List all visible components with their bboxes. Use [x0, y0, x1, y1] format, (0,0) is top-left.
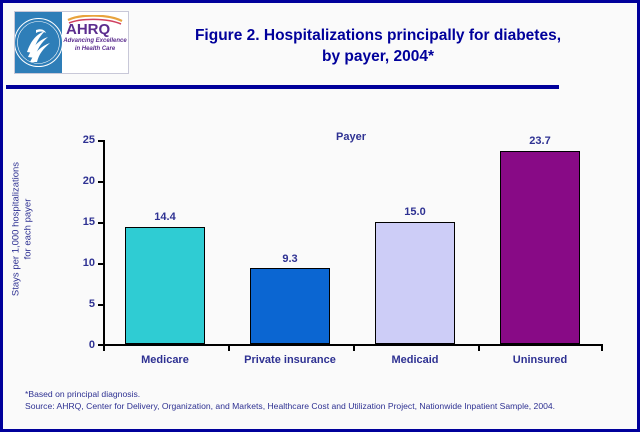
bar-value-medicare: 14.4	[135, 211, 195, 223]
y-tick-label-20: 20	[69, 176, 95, 187]
footnote-source: Source: AHRQ, Center for Delivery, Organ…	[25, 400, 625, 412]
y-tick-label-15: 15	[69, 217, 95, 228]
bar-chart-plot: Stays per 1,000 hospitalizations for eac…	[3, 89, 637, 369]
x-tick-mark-0	[103, 346, 105, 351]
x-axis-title: Payer	[321, 131, 381, 143]
x-tick-mark-2	[353, 346, 355, 351]
figure-header: AHRQ Advancing Excellence in Health Care…	[3, 3, 637, 83]
bar-private-insurance[interactable]	[250, 268, 330, 344]
footnote-note: *Based on principal diagnosis.	[25, 388, 625, 400]
bar-uninsured[interactable]	[500, 151, 580, 344]
figure-container: AHRQ Advancing Excellence in Health Care…	[0, 0, 640, 432]
hhs-seal-icon	[15, 12, 62, 73]
x-tick-mark-1	[228, 346, 230, 351]
x-category-label-medicaid: Medicaid	[355, 354, 475, 366]
y-tick-label-25: 25	[69, 135, 95, 146]
x-category-label-private-insurance: Private insurance	[230, 354, 350, 366]
y-tick-label-10: 10	[69, 258, 95, 269]
x-category-label-uninsured: Uninsured	[480, 354, 600, 366]
y-tick-label-5: 5	[69, 299, 95, 310]
ahrq-logo: AHRQ Advancing Excellence in Health Care	[14, 11, 129, 74]
y-axis-title: Stays per 1,000 hospitalizations for eac…	[11, 147, 35, 312]
x-tick-mark-4	[601, 346, 603, 351]
svg-text:AHRQ: AHRQ	[66, 21, 110, 37]
bar-medicaid[interactable]	[375, 222, 455, 344]
x-category-label-medicare: Medicare	[105, 354, 225, 366]
bar-value-medicaid: 15.0	[385, 206, 445, 218]
x-tick-mark-3	[478, 346, 480, 351]
ahrq-logotype-icon: AHRQ	[64, 15, 126, 37]
bar-value-uninsured: 23.7	[510, 135, 570, 147]
y-axis-line	[103, 140, 105, 345]
ahrq-wordmark: AHRQ Advancing Excellence in Health Care	[62, 12, 128, 73]
figure-title: Figure 2. Hospitalizations principally f…	[143, 25, 613, 67]
ahrq-tagline: Advancing Excellence in Health Care	[62, 38, 128, 53]
y-tick-label-0: 0	[69, 340, 95, 351]
footnotes: *Based on principal diagnosis. Source: A…	[25, 388, 625, 412]
bar-medicare[interactable]	[125, 227, 205, 345]
bar-value-private-insurance: 9.3	[260, 253, 320, 265]
